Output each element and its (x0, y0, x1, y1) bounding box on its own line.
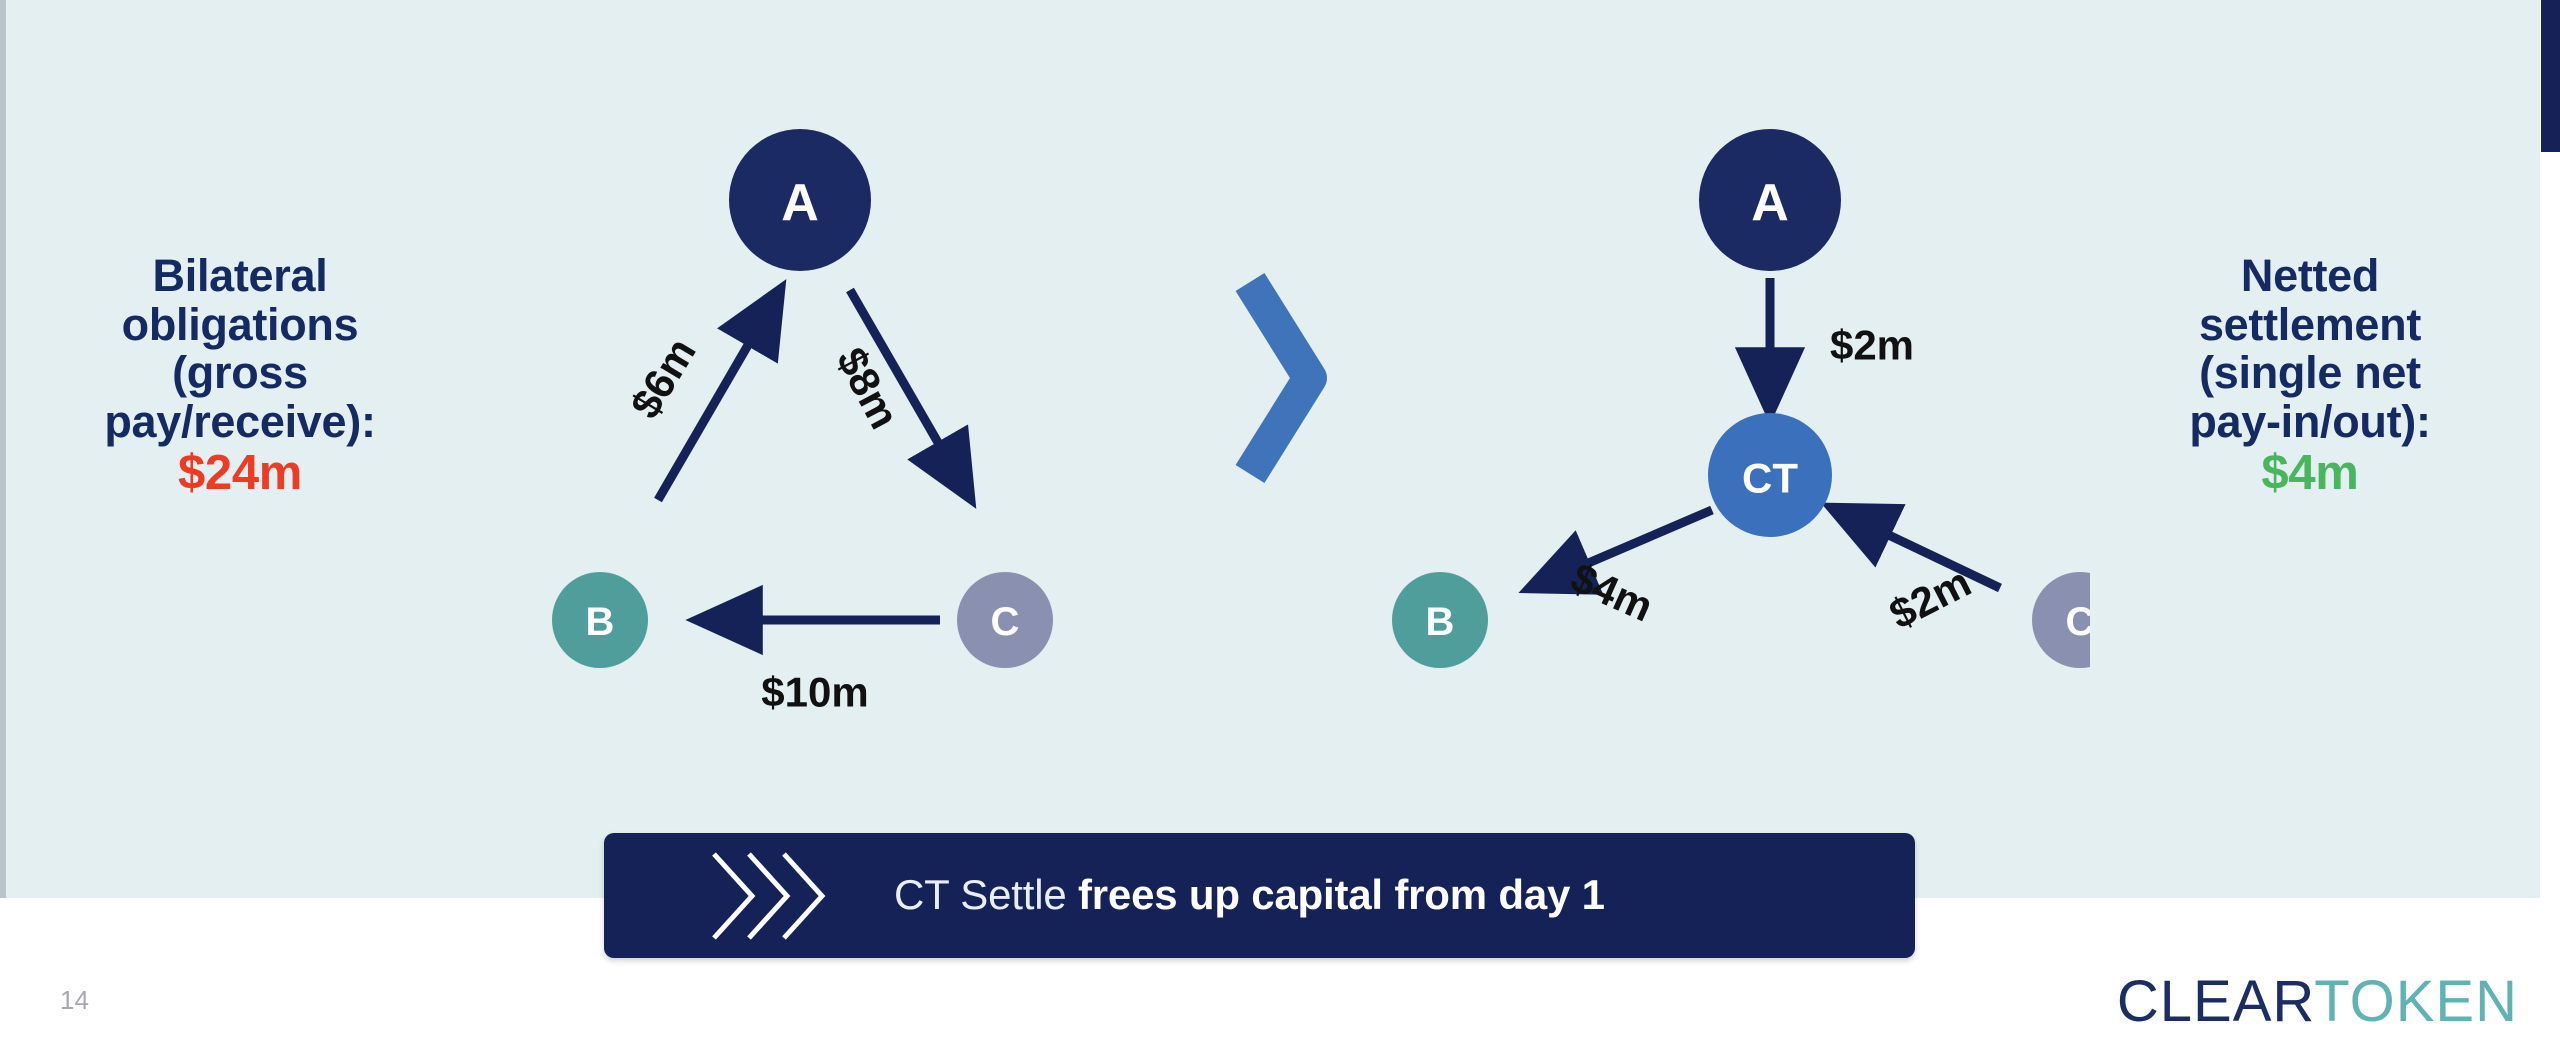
node-ct-label: CT (1742, 455, 1798, 502)
edge-label-b-to-a: $6m (621, 330, 705, 426)
edge-label-c-to-b: $10m (761, 669, 868, 716)
edge-label-a-to-c: $8m (828, 340, 909, 436)
right-navy-tab (2541, 0, 2560, 152)
edge-c-to-ct (1832, 508, 2000, 588)
caption-netted-line3: (single net (2199, 347, 2421, 398)
node-b-label: B (1426, 600, 1455, 644)
node-c-label: C (991, 600, 1020, 644)
page-number: 14 (60, 985, 89, 1016)
node-c-label: C (2066, 600, 2090, 644)
caption-bilateral: Bilateral obligations (gross pay/receive… (20, 252, 460, 502)
edge-label-ct-to-b: $4m (1564, 553, 1660, 630)
banner-text-light: CT Settle (894, 871, 1067, 918)
logo-token: TOKEN (2314, 969, 2518, 1034)
node-a-label: A (1751, 174, 1789, 232)
slide-root: Bilateral obligations (gross pay/receive… (0, 0, 2560, 1038)
banner-text: CT Settle frees up capital from day 1 (894, 872, 1605, 918)
caption-bilateral-line4: pay/receive): (104, 396, 375, 447)
bilateral-obligations-diagram: A B C $6m $8m $10m (470, 0, 1270, 898)
triple-chevron-right-icon (704, 846, 864, 946)
edge-label-a-to-ct: $2m (1830, 322, 1914, 369)
node-b-label: B (586, 600, 615, 644)
node-a-label: A (781, 174, 819, 232)
netted-settlement-diagram: A CT B C $2m $4m $2m (1290, 0, 2090, 898)
logo-clear: CLEAR (2117, 969, 2314, 1034)
caption-netted-line4: pay-in/out): (2189, 396, 2430, 447)
caption-netted-amount: $4m (2090, 446, 2530, 502)
caption-netted-line2: settlement (2199, 299, 2421, 350)
caption-bilateral-amount: $24m (20, 446, 460, 502)
cleartoken-logo: CLEARTOKEN (2117, 968, 2518, 1035)
ct-settle-banner: CT Settle frees up capital from day 1 (604, 833, 1915, 958)
banner-text-bold: frees up capital from day 1 (1078, 871, 1605, 918)
caption-netted: Netted settlement (single net pay-in/out… (2090, 252, 2530, 502)
caption-netted-line1: Netted (2241, 250, 2379, 301)
caption-bilateral-line2: obligations (122, 299, 359, 350)
caption-bilateral-line3: (gross (172, 347, 308, 398)
caption-bilateral-line1: Bilateral (153, 250, 328, 301)
left-edge-rail (0, 0, 6, 898)
